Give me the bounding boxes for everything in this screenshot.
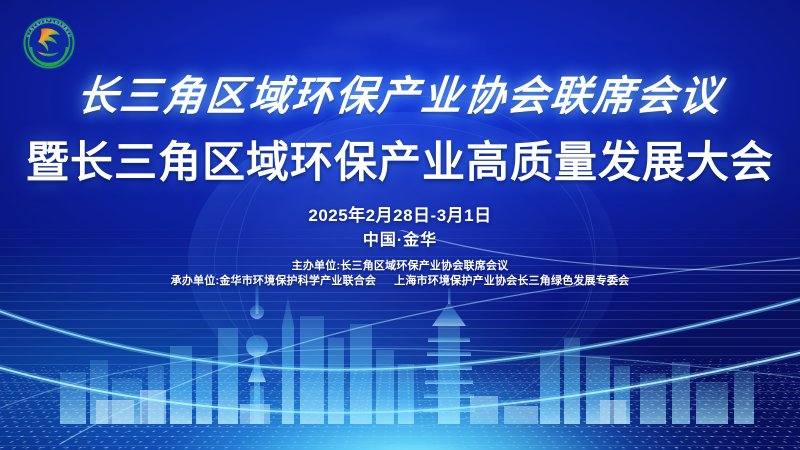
organizer-block: 主办单位:长三角区域环保产业协会联席会议 承办单位:金华市环境保护科学产业联合会… — [0, 259, 800, 289]
host-label: 主办单位: — [292, 260, 341, 272]
host-organization-line: 主办单位:长三角区域环保产业协会联席会议 — [0, 259, 800, 274]
co-organizer-line: 承办单位:金华市环境保护科学产业联合会上海市环境保护产业协会长三角绿色发展专委会 — [0, 274, 800, 289]
conference-date: 2025年2月28日-3月1日 — [0, 201, 800, 226]
conference-banner: 长三角区域环保产业协会联席会议 长三角区域环保产业协会联席会议 暨长三角区域环保… — [0, 0, 800, 450]
conference-title-main: 暨长三角区域环保产业高质量发展大会 — [0, 128, 800, 190]
conference-title-calligraphy: 长三角区域环保产业协会联席会议 — [0, 62, 800, 122]
co-organizer-value-1: 金华市环境保护科学产业联合会 — [219, 275, 376, 287]
host-value: 长三角区域环保产业协会联席会议 — [340, 260, 508, 272]
banner-content: 长三角区域环保产业协会联席会议 暨长三角区域环保产业高质量发展大会 2025年2… — [0, 0, 800, 450]
co-organizer-label: 承办单位: — [171, 275, 220, 287]
co-organizer-value-2: 上海市环境保护产业协会长三角绿色发展专委会 — [394, 275, 629, 287]
conference-location: 中国·金华 — [0, 226, 800, 250]
